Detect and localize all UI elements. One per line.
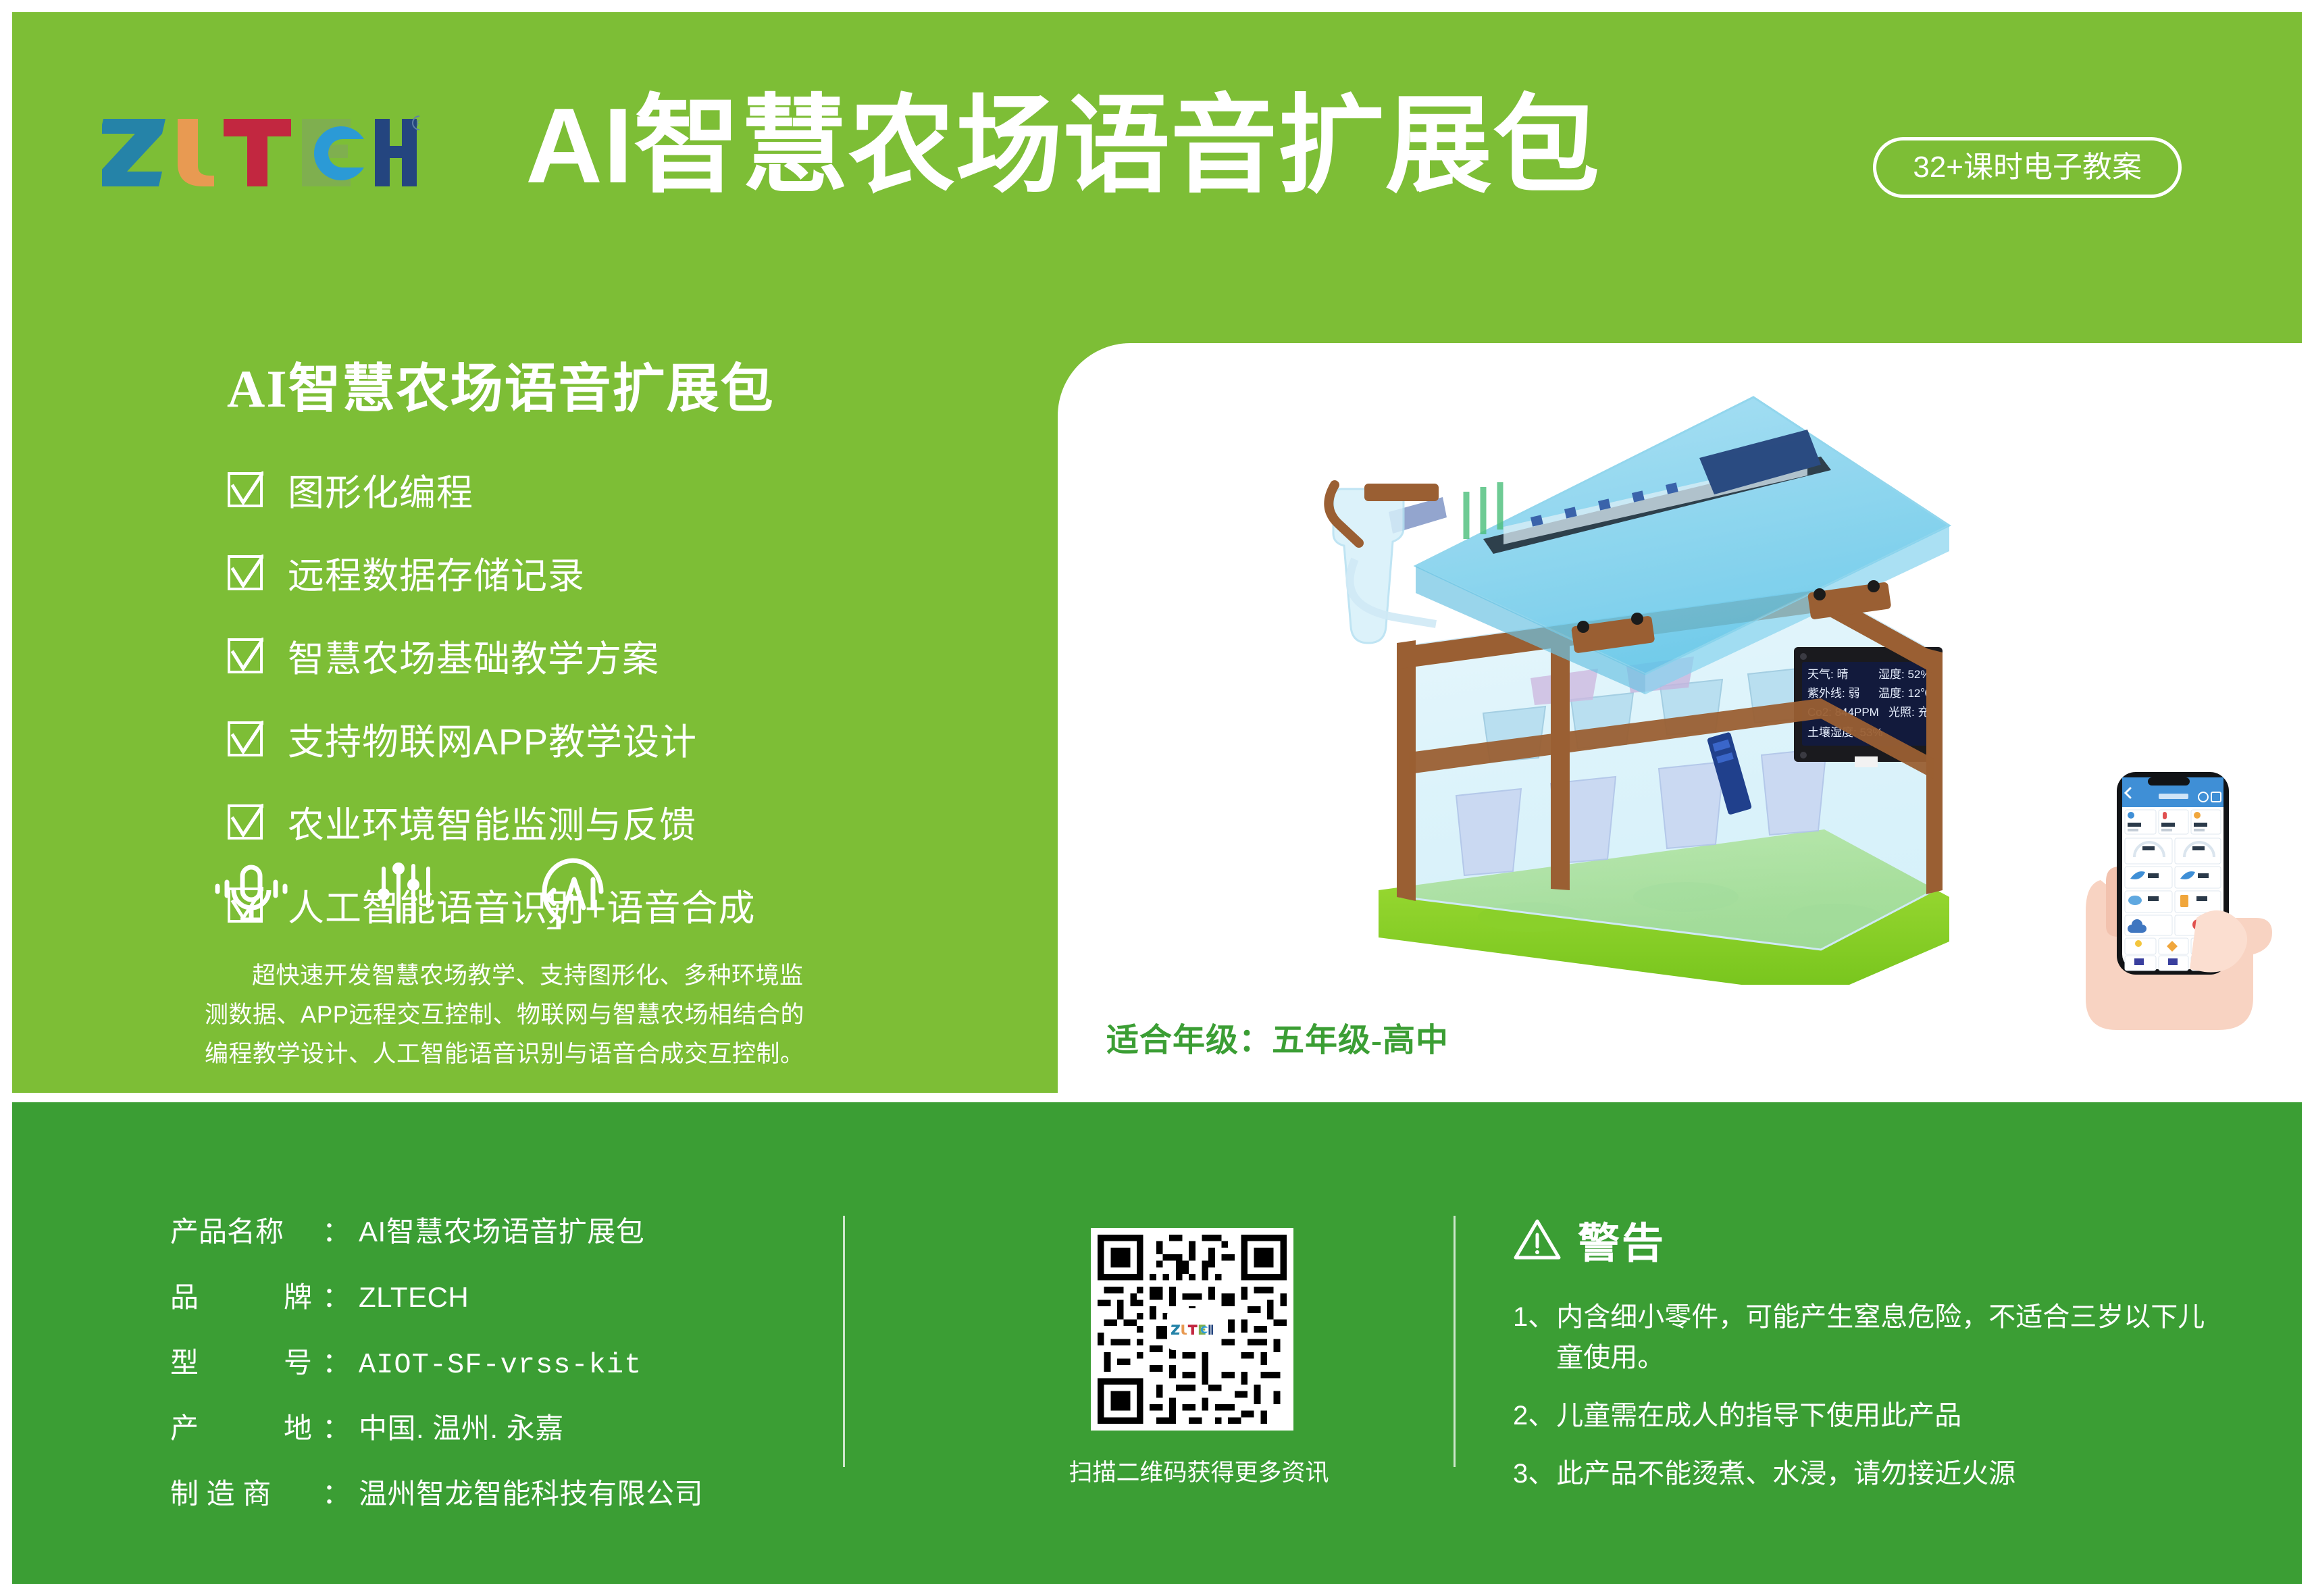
qr-frame bbox=[1054, 1228, 1331, 1431]
feature-label: 农业环境智能监测与反馈 bbox=[288, 795, 696, 848]
feature-label: 远程数据存储记录 bbox=[288, 546, 585, 599]
qr-center-logo bbox=[1167, 1308, 1217, 1350]
warning-block: 警告 1、 内含细小零件，可能产生窒息危险，不适合三岁以下儿童使用。 2、 儿童… bbox=[1513, 1209, 2229, 1512]
list-item: 3、 此产品不能烫煮、水浸，请勿接近火源 bbox=[1513, 1453, 2229, 1494]
list-item: 远程数据存储记录 bbox=[227, 546, 983, 599]
spec-colon: ： bbox=[322, 1275, 351, 1316]
top-panel: R AI智慧农场语音扩展包 32+课时电子教案 AI智慧农场语音扩展包 图形化编… bbox=[12, 12, 2302, 1093]
phone-in-hand-illustration bbox=[2064, 758, 2294, 1042]
feature-label: 智慧农场基础教学方案 bbox=[288, 629, 659, 682]
feature-description: 超快速开发智慧农场教学、支持图形化、多种环境监测数据、APP远程交互控制、物联网… bbox=[205, 956, 813, 1073]
equalizer-icon bbox=[374, 856, 447, 929]
spec-value: 温州智龙智能科技有限公司 bbox=[359, 1471, 703, 1512]
divider bbox=[843, 1216, 845, 1467]
checkbox-check-icon bbox=[227, 804, 263, 840]
spec-key: 产品名称 bbox=[170, 1209, 322, 1250]
feature-icon-row bbox=[215, 856, 613, 929]
spec-value: ZLTECH bbox=[359, 1281, 469, 1314]
warning-list: 1、 内含细小零件，可能产生窒息危险，不适合三岁以下儿童使用。 2、 儿童需在成… bbox=[1513, 1297, 2229, 1494]
warning-number: 1、 bbox=[1513, 1297, 1555, 1378]
spec-key: 产 地 bbox=[170, 1406, 322, 1447]
header: R AI智慧农场语音扩展包 32+课时电子教案 bbox=[12, 12, 2302, 215]
spec-colon: ： bbox=[322, 1406, 351, 1447]
spec-colon: ： bbox=[322, 1209, 351, 1250]
warning-header: 警告 bbox=[1513, 1209, 2229, 1270]
grade-label: 适合年级：五年级-高中 bbox=[1106, 1013, 1449, 1060]
greenhouse-model-image: 天气: 晴 湿度: 52% 紫外线: 弱 温度: 12℃ Co2: 844PPM… bbox=[1213, 357, 1983, 985]
course-badge: 32+课时电子教案 bbox=[1873, 137, 2182, 198]
qr-block: 扫描二维码获得更多资讯 bbox=[1054, 1228, 1344, 1488]
zltech-logo: R bbox=[102, 115, 419, 189]
qr-caption: 扫描二维码获得更多资讯 bbox=[1054, 1453, 1344, 1488]
checkbox-check-icon bbox=[227, 638, 263, 674]
checkbox-check-icon bbox=[227, 555, 263, 591]
microphone-icon bbox=[215, 856, 288, 929]
list-item: 2、 儿童需在成人的指导下使用此产品 bbox=[1513, 1395, 2229, 1436]
warning-triangle-icon bbox=[1513, 1217, 1562, 1262]
spec-colon: ： bbox=[322, 1471, 351, 1512]
table-row: 品 牌 ： ZLTECH bbox=[170, 1275, 819, 1316]
zltech-mini-logo-icon bbox=[1171, 1322, 1213, 1336]
list-item: 1、 内含细小零件，可能产生窒息危险，不适合三岁以下儿童使用。 bbox=[1513, 1297, 2229, 1378]
table-row: 产品名称 ： AI智慧农场语音扩展包 bbox=[170, 1209, 819, 1250]
spec-key: 制 造 商 bbox=[170, 1471, 322, 1512]
table-row: 产 地 ： 中国. 温州. 永嘉 bbox=[170, 1406, 819, 1447]
warning-number: 2、 bbox=[1513, 1395, 1555, 1436]
lcd-line2-left: 紫外线: 弱 bbox=[1807, 687, 1859, 700]
feature-subtitle: AI智慧农场语音扩展包 bbox=[227, 346, 983, 422]
warning-text: 内含细小零件，可能产生窒息危险，不适合三岁以下儿童使用。 bbox=[1556, 1297, 2229, 1378]
zltech-logo-icon: R bbox=[102, 115, 419, 189]
table-row: 型 号 ： AIOT-SF-vrss-kit bbox=[170, 1340, 819, 1381]
warning-text: 儿童需在成人的指导下使用此产品 bbox=[1556, 1395, 1961, 1436]
warning-text: 此产品不能烫煮、水浸，请勿接近火源 bbox=[1556, 1453, 2015, 1494]
divider bbox=[1454, 1216, 1456, 1467]
spec-value: AIOT-SF-vrss-kit bbox=[359, 1349, 642, 1381]
checkbox-check-icon bbox=[227, 721, 263, 757]
checkbox-check-icon bbox=[227, 471, 263, 508]
qr-code[interactable] bbox=[1091, 1228, 1293, 1431]
spec-value: 中国. 温州. 永嘉 bbox=[359, 1406, 564, 1447]
spec-key: 品 牌 bbox=[170, 1275, 322, 1316]
page-title: AI智慧农场语音扩展包 bbox=[525, 86, 1600, 206]
lcd-line1-left: 天气: 晴 bbox=[1807, 668, 1848, 681]
ai-head-icon bbox=[534, 856, 613, 929]
lcd-line2-right: 温度: 12℃ bbox=[1878, 687, 1932, 700]
spec-key: 型 号 bbox=[170, 1340, 322, 1381]
spec-colon: ： bbox=[322, 1340, 351, 1381]
list-item: 图形化编程 bbox=[227, 463, 983, 516]
product-specs: 产品名称 ： AI智慧农场语音扩展包 品 牌 ： ZLTECH 型 号 ： AI… bbox=[170, 1209, 819, 1537]
list-item: 智慧农场基础教学方案 bbox=[227, 629, 983, 682]
list-item: 支持物联网APP教学设计 bbox=[227, 712, 983, 765]
spec-value: AI智慧农场语音扩展包 bbox=[359, 1209, 644, 1250]
list-item: 农业环境智能监测与反馈 bbox=[227, 795, 983, 848]
warning-number: 3、 bbox=[1513, 1453, 1555, 1494]
table-row: 制 造 商 ： 温州智龙智能科技有限公司 bbox=[170, 1471, 819, 1512]
feature-label: 图形化编程 bbox=[288, 463, 473, 516]
svg-text:R: R bbox=[417, 119, 419, 128]
warning-title: 警告 bbox=[1578, 1209, 1666, 1270]
product-photo: 天气: 晴 湿度: 52% 紫外线: 弱 温度: 12℃ Co2: 844PPM… bbox=[1058, 343, 2314, 1093]
feature-label: 支持物联网APP教学设计 bbox=[288, 712, 697, 765]
product-photo-panel: 天气: 晴 湿度: 52% 紫外线: 弱 温度: 12℃ Co2: 844PPM… bbox=[1058, 343, 2314, 1093]
poster-page: R AI智慧农场语音扩展包 32+课时电子教案 AI智慧农场语音扩展包 图形化编… bbox=[0, 0, 2314, 1596]
lcd-line1-right: 湿度: 52% bbox=[1878, 668, 1930, 681]
